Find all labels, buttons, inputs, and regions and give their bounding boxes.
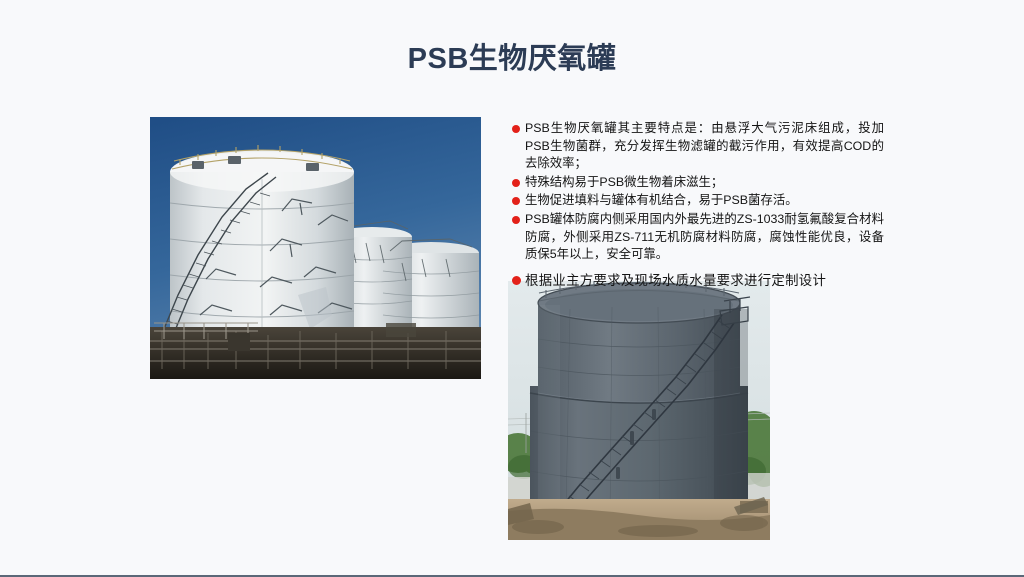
list-item: PSB罐体防腐内侧采用国内外最先进的ZS-1033耐氢氟酸复合材料防腐，外侧采用… [512,211,884,264]
list-item: 根据业主方要求及现场水质水量要求进行定制设计 [512,271,884,290]
list-item: 生物促进填料与罐体有机结合，易于PSB菌存活。 [512,192,884,210]
tank-farm-illustration [150,117,481,379]
slide-canvas: PSB生物厌氧罐 [0,0,1024,577]
page-title: PSB生物厌氧罐 [0,42,1024,77]
list-item: 特殊结构易于PSB微生物着床滋生； [512,174,884,192]
features-bullet-list: PSB生物厌氧罐其主要特点是：由悬浮大气污泥床组成，投加PSB生物菌群，充分发挥… [512,120,884,291]
white-storage-tank-farm-photo [150,117,481,379]
anaerobic-tank-illustration [508,281,770,540]
list-item: PSB生物厌氧罐其主要特点是：由悬浮大气污泥床组成，投加PSB生物菌群，充分发挥… [512,120,884,173]
psb-anaerobic-tank-photo [508,281,770,540]
